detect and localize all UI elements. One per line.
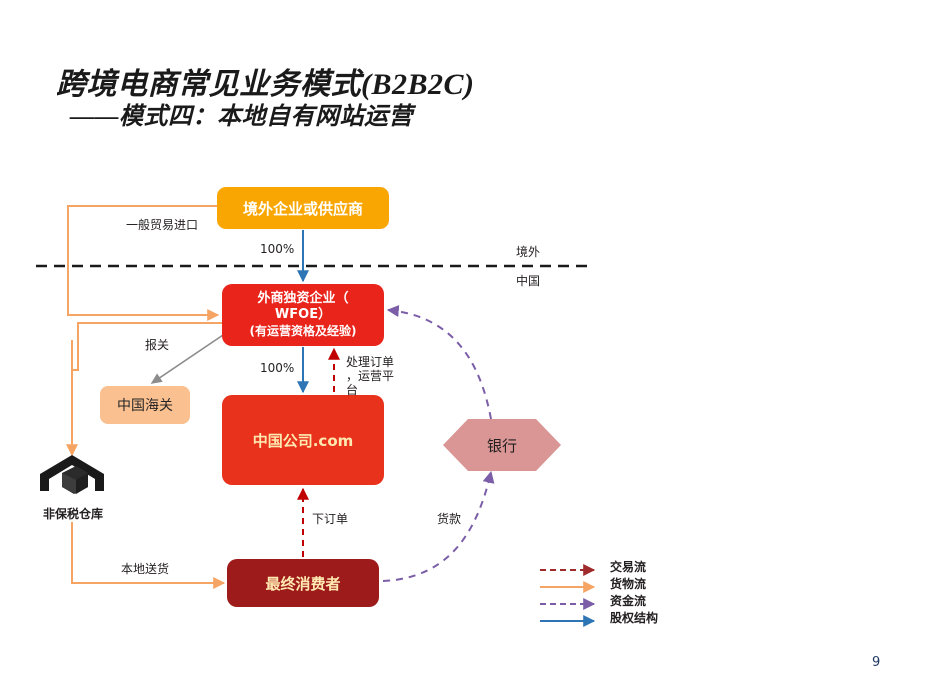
label-process-order-line2: ，运营平 [346, 369, 404, 383]
node-overseas-supplier-label: 境外企业或供应商 [243, 198, 363, 219]
title-line-2: ——模式四：本地自有网站运营 [56, 102, 696, 132]
legend-label-equity-structure: 股权结构 [610, 609, 658, 626]
node-china-customs[interactable]: 中国海关 [100, 386, 190, 424]
legend-label-fund-flow: 资金流 [610, 592, 646, 609]
title-line-1: 跨境电商常见业务模式(B2B2C) [56, 68, 696, 102]
label-process-order: 处理订单 ，运营平 台 [346, 355, 404, 397]
node-end-consumer[interactable]: 最终消费者 [227, 559, 379, 607]
legend-swatch-goods-flow [538, 578, 602, 590]
legend-swatch-equity-structure [538, 612, 602, 624]
label-china: 中国 [516, 272, 540, 289]
slide-canvas: 跨境电商常见业务模式(B2B2C) ——模式四：本地自有网站运营 境外企业或供应… [0, 0, 950, 700]
node-china-customs-label: 中国海关 [117, 395, 173, 415]
node-wfoe-label-line1: 外商独资企业（ [257, 291, 348, 307]
node-overseas-supplier[interactable]: 境外企业或供应商 [217, 187, 389, 229]
node-bank-label: 银行 [443, 419, 561, 471]
label-overseas: 境外 [516, 243, 540, 260]
legend-swatch-fund-flow [538, 595, 602, 607]
warehouse-caption: 非保税仓库 [10, 505, 136, 522]
label-equity-100-mid: 100% [260, 361, 294, 375]
page-number: 9 [872, 655, 880, 670]
node-china-company-com-label: 中国公司.com [253, 430, 354, 451]
legend-item-fund-flow: 资金流 [538, 592, 688, 609]
node-wfoe-label-line3: (有运营资格及经验) [250, 323, 357, 339]
label-process-order-line3: 台 [346, 383, 404, 397]
node-end-consumer-label: 最终消费者 [265, 573, 340, 594]
legend-label-goods-flow: 货物流 [610, 575, 646, 592]
warehouse-icon [40, 455, 104, 494]
legend: 交易流 货物流 资金流 [538, 558, 688, 626]
node-bank[interactable]: 银行 [443, 419, 561, 471]
node-china-company-com[interactable]: 中国公司.com [222, 395, 384, 485]
label-payment: 货款 [437, 510, 461, 527]
legend-item-equity-structure: 股权结构 [538, 609, 688, 626]
legend-label-transaction-flow: 交易流 [610, 558, 646, 575]
legend-item-goods-flow: 货物流 [538, 575, 688, 592]
label-local-delivery: 本地送货 [121, 560, 169, 577]
node-wfoe-label-line2: WFOE） [275, 307, 331, 323]
legend-swatch-transaction-flow [538, 561, 602, 573]
legend-item-transaction-flow: 交易流 [538, 558, 688, 575]
label-place-order: 下订单 [312, 510, 348, 527]
label-process-order-line1: 处理订单 [346, 355, 404, 369]
label-equity-100-top: 100% [260, 242, 294, 256]
node-wfoe[interactable]: 外商独资企业（ WFOE） (有运营资格及经验) [222, 284, 384, 346]
slide-title: 跨境电商常见业务模式(B2B2C) ——模式四：本地自有网站运营 [56, 68, 696, 132]
label-general-trade-import: 一般贸易进口 [126, 216, 198, 233]
label-customs-declaration: 报关 [145, 336, 169, 353]
